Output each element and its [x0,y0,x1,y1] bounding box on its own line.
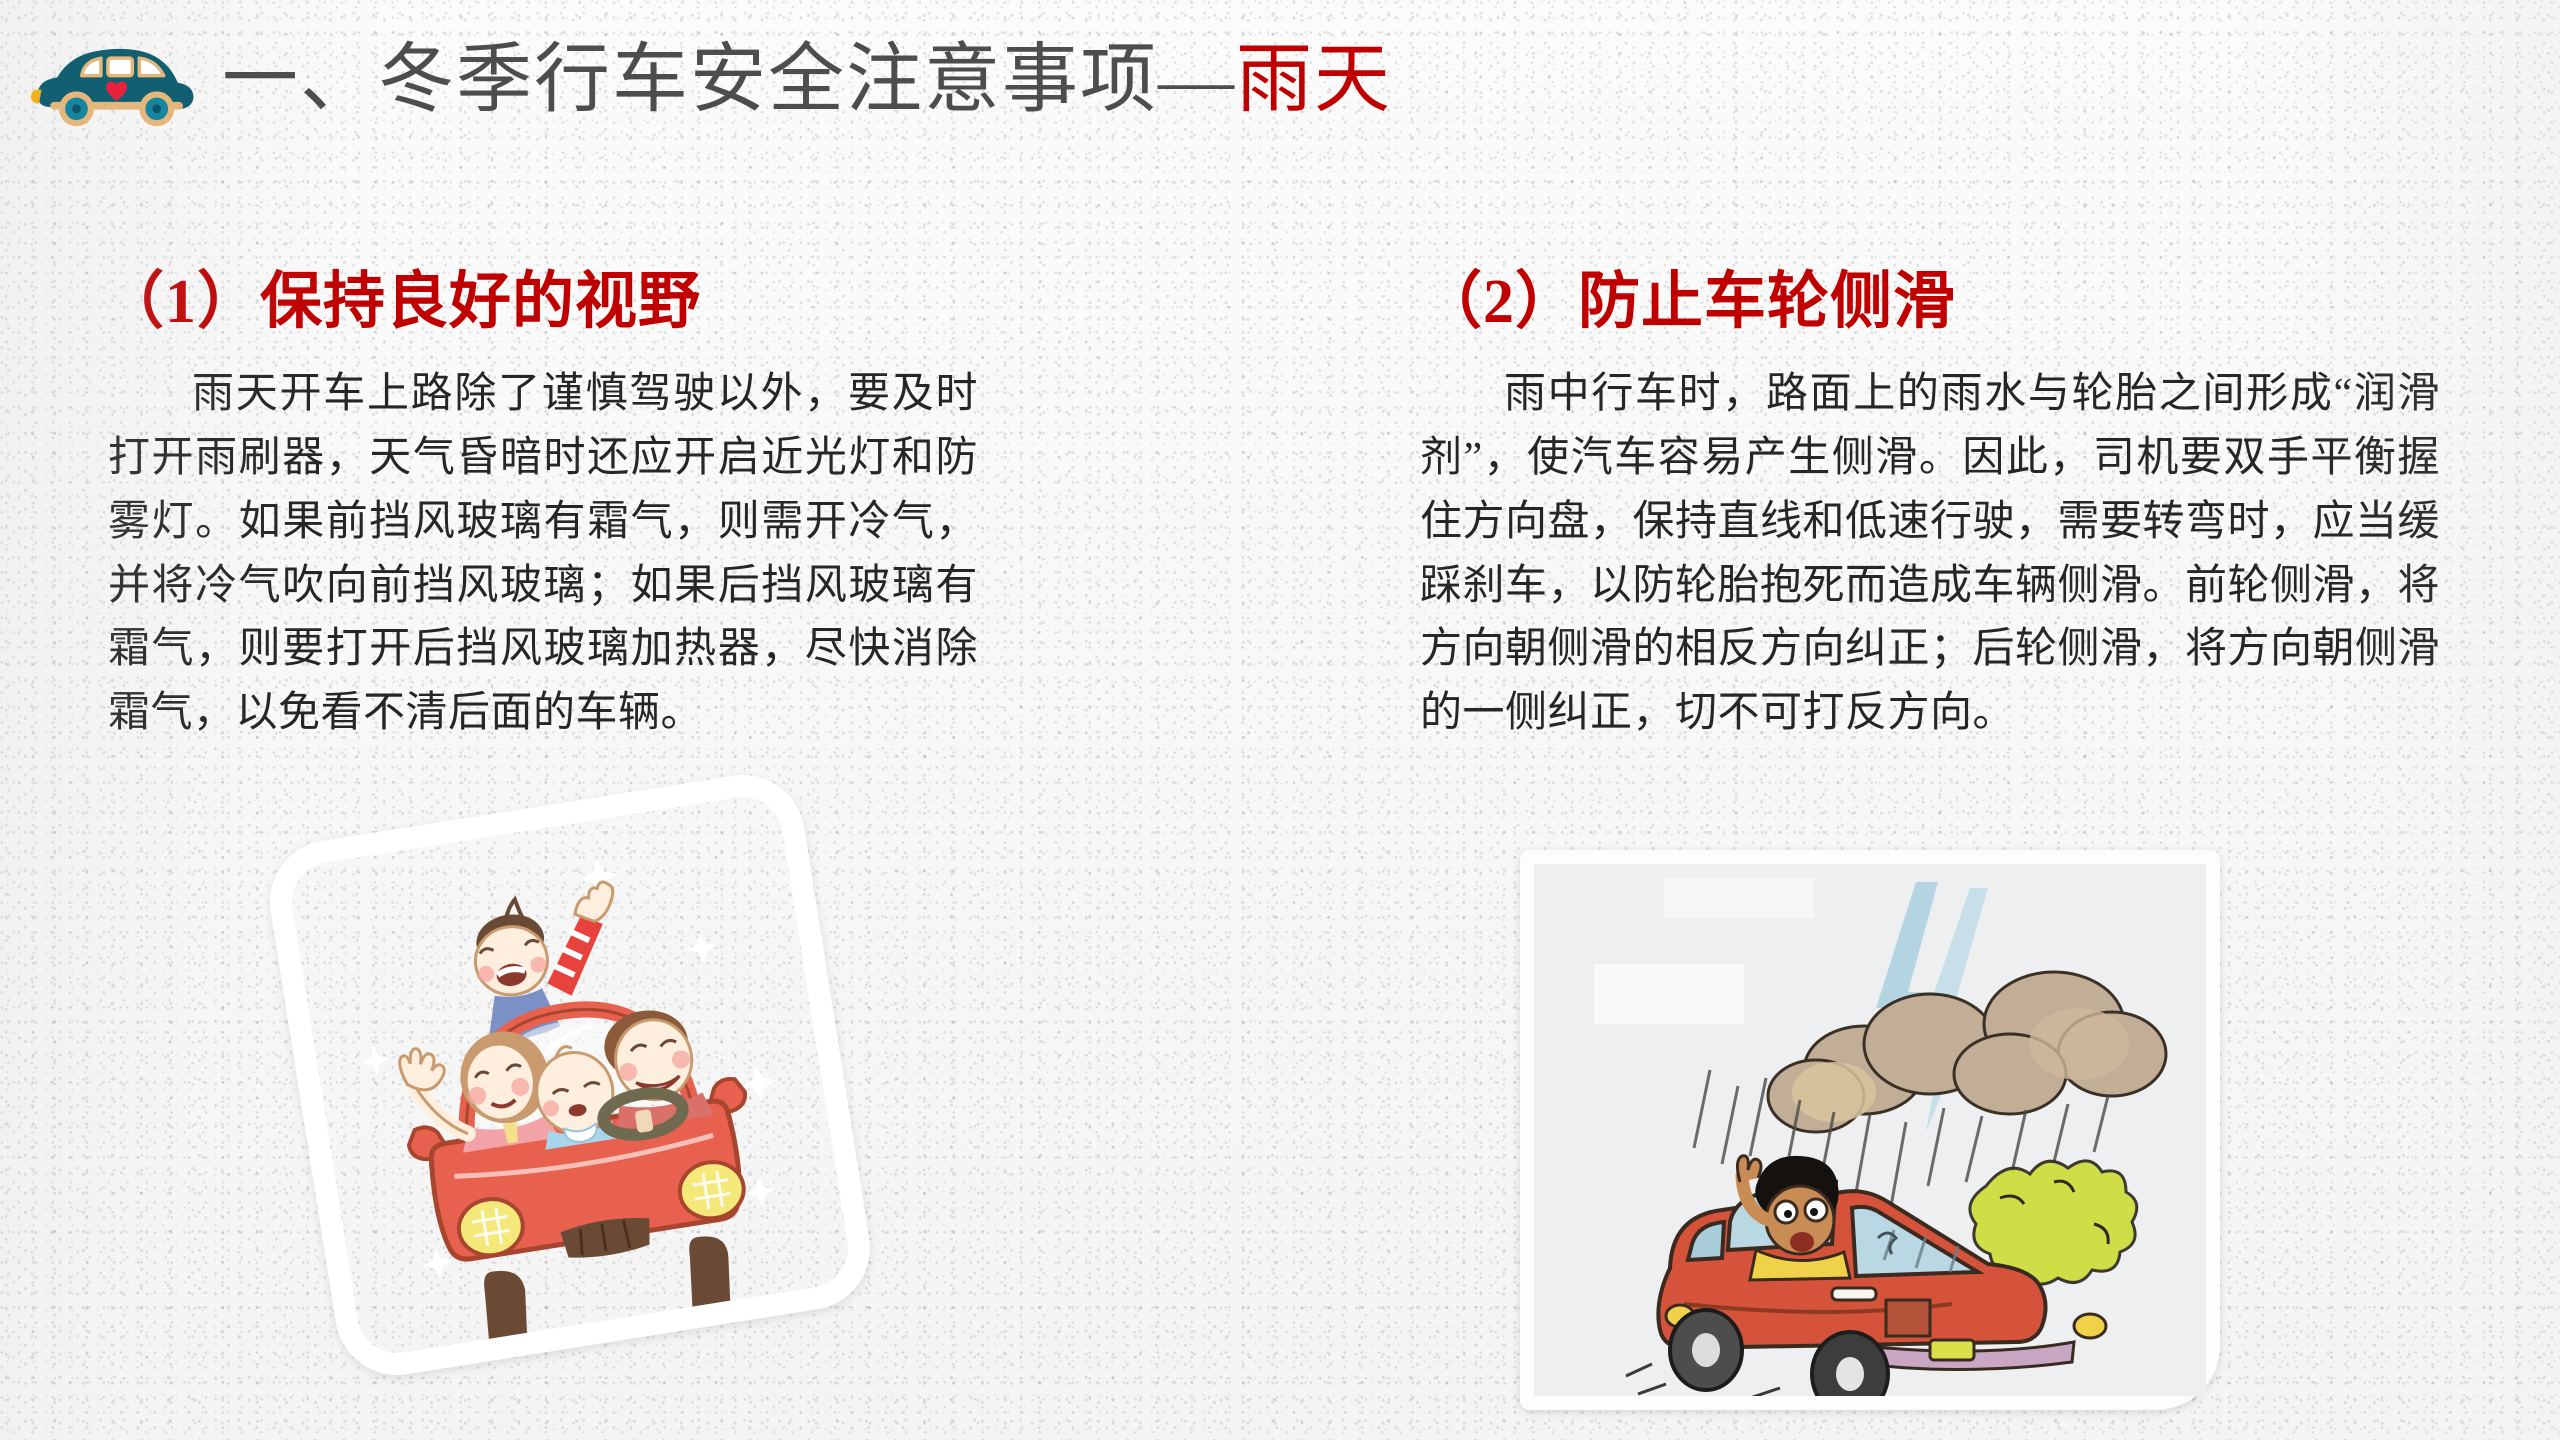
section-2-body: 雨中行车时，路面上的雨水与轮胎之间形成“润滑剂”，使汽车容易产生侧滑。因此，司机… [1420,363,2440,746]
page-title-main: 一、冬季行车安全注意事项— [222,38,1236,122]
section-2-heading: （2）防止车轮侧滑 [1420,270,2520,335]
car-icon [28,32,200,128]
section-1-heading: （1）保持良好的视野 [102,270,1180,335]
family-in-red-car-illustration [261,766,879,1384]
section-1-column: （1）保持良好的视野 雨天开车上路除了谨慎驾驶以外，要及时打开雨刷器，天气昏暗时… [60,270,1180,746]
photo-frame-right [1520,850,2220,1410]
section-1-body: 雨天开车上路除了谨慎驾驶以外，要及时打开雨刷器，天气昏暗时还应开启近光灯和防雾灯… [108,363,978,746]
car-in-rainstorm-illustration [1520,850,2220,1410]
page-title-accent: 雨天 [1236,38,1392,122]
slide-canvas: 一、冬季行车安全注意事项—雨天 （1）保持良好的视野 雨天开车上路除了谨慎驾驶以… [0,0,2560,1440]
slide-title-row: 一、冬季行车安全注意事项—雨天 [28,32,1392,128]
section-2-column: （2）防止车轮侧滑 雨中行车时，路面上的雨水与轮胎之间形成“润滑剂”，使汽车容易… [1420,270,2520,746]
photo-frame-left [261,766,879,1384]
page-title: 一、冬季行车安全注意事项—雨天 [222,42,1392,118]
